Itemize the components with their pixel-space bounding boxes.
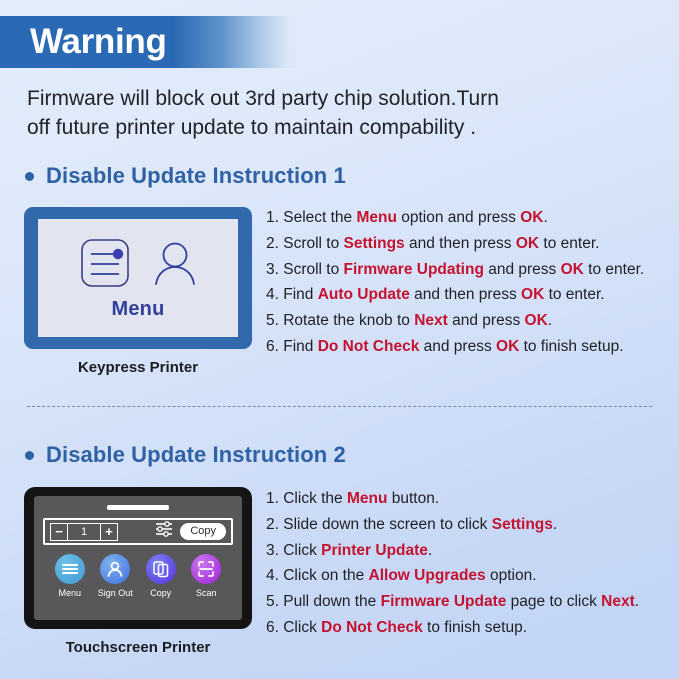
highlighted-term: Auto Update bbox=[318, 286, 410, 303]
sliders-icon[interactable] bbox=[154, 520, 174, 543]
person-icon bbox=[153, 239, 197, 292]
instruction-step: 4. Click on the Allow Upgrades option. bbox=[266, 563, 676, 589]
step-text: to finish setup. bbox=[519, 338, 623, 355]
instruction-step: 1. Click the Menu button. bbox=[266, 486, 676, 512]
keypress-icon-row bbox=[79, 237, 197, 294]
section-heading-2: Disable Update Instruction 2 bbox=[25, 442, 346, 468]
step-text: option and press bbox=[397, 209, 520, 226]
step-text: to enter. bbox=[584, 261, 644, 278]
step-text: page to click bbox=[506, 593, 601, 610]
keypress-menu-label: Menu bbox=[111, 298, 164, 321]
highlighted-term: Do Not Check bbox=[318, 338, 420, 355]
keypress-printer-screen: Menu bbox=[38, 219, 238, 337]
instruction-step: 3. Scroll to Firmware Updating and press… bbox=[266, 257, 676, 283]
scan-frame-icon[interactable] bbox=[191, 554, 221, 584]
section-heading-2-label: Disable Update Instruction 2 bbox=[46, 442, 346, 468]
highlighted-term: Firmware Updating bbox=[344, 261, 484, 278]
step-text: 4. Click on the bbox=[266, 567, 369, 584]
step-text: 5. Rotate the knob to bbox=[266, 312, 414, 329]
app-label-sign-out: Sign Out bbox=[98, 588, 133, 598]
touchscreen-printer-screen: − 1 + Copy bbox=[34, 496, 242, 620]
instruction-step: 1. Select the Menu option and press OK. bbox=[266, 205, 676, 231]
step-text: 3. Click bbox=[266, 542, 321, 559]
step-text: and press bbox=[484, 261, 561, 278]
step-text: 5. Pull down the bbox=[266, 593, 381, 610]
app-item-sign-out[interactable]: Sign Out bbox=[93, 554, 139, 598]
section-heading-1: Disable Update Instruction 1 bbox=[25, 163, 346, 189]
increment-button[interactable]: + bbox=[100, 523, 118, 541]
instruction-step: 6. Click Do Not Check to finish setup. bbox=[266, 615, 676, 641]
instruction-step: 3. Click Printer Update. bbox=[266, 538, 676, 564]
intro-paragraph: Firmware will block out 3rd party chip s… bbox=[27, 84, 627, 142]
copy-quantity-stepper[interactable]: − 1 + bbox=[50, 523, 118, 541]
keypress-printer-caption: Keypress Printer bbox=[24, 359, 252, 376]
highlighted-term: Next bbox=[414, 312, 448, 329]
instruction-step: 2. Scroll to Settings and then press OK … bbox=[266, 231, 676, 257]
highlighted-term: Do Not Check bbox=[321, 619, 423, 636]
instruction-step: 2. Slide down the screen to click Settin… bbox=[266, 512, 676, 538]
step-text: . bbox=[548, 312, 552, 329]
highlighted-term: Menu bbox=[356, 209, 396, 226]
app-item-menu[interactable]: Menu bbox=[47, 554, 93, 598]
touchscreen-printer-device: − 1 + Copy bbox=[24, 487, 252, 629]
step-text: option. bbox=[486, 567, 537, 584]
instruction-list-1: 1. Select the Menu option and press OK.2… bbox=[266, 205, 676, 360]
instruction-step: 5. Pull down the Firmware Update page to… bbox=[266, 589, 676, 615]
highlighted-term: OK bbox=[520, 209, 543, 226]
instruction-list-2: 1. Click the Menu button.2. Slide down t… bbox=[266, 486, 676, 641]
decrement-button[interactable]: − bbox=[50, 523, 68, 541]
app-label-scan: Scan bbox=[196, 588, 217, 598]
documents-icon[interactable] bbox=[146, 554, 176, 584]
step-text: . bbox=[553, 516, 557, 533]
step-text: 1. Click the bbox=[266, 490, 347, 507]
highlighted-term: OK bbox=[561, 261, 584, 278]
highlighted-term: Settings bbox=[344, 235, 405, 252]
touchscreen-printer-figure: − 1 + Copy bbox=[24, 487, 252, 656]
step-text: and press bbox=[448, 312, 525, 329]
bullet-icon bbox=[25, 451, 34, 460]
highlighted-term: Allow Upgrades bbox=[369, 567, 486, 584]
instruction-step: 6. Find Do Not Check and press OK to fin… bbox=[266, 334, 676, 360]
page-title: Warning bbox=[30, 17, 167, 67]
intro-line-1: Firmware will block out 3rd party chip s… bbox=[27, 84, 627, 113]
step-text: to enter. bbox=[539, 235, 599, 252]
step-text: to finish setup. bbox=[423, 619, 527, 636]
step-text: . bbox=[543, 209, 547, 226]
step-text: to enter. bbox=[544, 286, 604, 303]
instruction-step: 5. Rotate the knob to Next and press OK. bbox=[266, 308, 676, 334]
app-label-copy: Copy bbox=[150, 588, 171, 598]
quantity-value: 1 bbox=[68, 523, 100, 541]
highlighted-term: OK bbox=[516, 235, 539, 252]
bullet-icon bbox=[25, 172, 34, 181]
keypress-printer-figure: Menu Keypress Printer bbox=[24, 207, 252, 376]
step-text: button. bbox=[387, 490, 439, 507]
instruction-step: 4. Find Auto Update and then press OK to… bbox=[266, 282, 676, 308]
step-text: 4. Find bbox=[266, 286, 318, 303]
highlighted-term: Next bbox=[601, 593, 635, 610]
highlighted-term: OK bbox=[525, 312, 548, 329]
step-text: and then press bbox=[410, 286, 521, 303]
touchscreen-printer-caption: Touchscreen Printer bbox=[24, 639, 252, 656]
copy-control-bar: − 1 + Copy bbox=[43, 518, 233, 545]
highlighted-term: Settings bbox=[492, 516, 553, 533]
step-text: and press bbox=[419, 338, 496, 355]
step-text: 3. Scroll to bbox=[266, 261, 344, 278]
step-text: and then press bbox=[405, 235, 516, 252]
person-icon[interactable] bbox=[100, 554, 130, 584]
highlighted-term: OK bbox=[496, 338, 519, 355]
speaker-bar bbox=[107, 505, 169, 510]
step-text: 2. Slide down the screen to click bbox=[266, 516, 492, 533]
highlighted-term: Printer Update bbox=[321, 542, 428, 559]
keypress-printer-device: Menu bbox=[24, 207, 252, 349]
step-text: 1. Select the bbox=[266, 209, 356, 226]
section-heading-1-label: Disable Update Instruction 1 bbox=[46, 163, 346, 189]
app-icon-row: Menu Sign Out bbox=[43, 554, 233, 598]
section-divider bbox=[27, 406, 652, 407]
step-text: . bbox=[428, 542, 432, 559]
copy-button[interactable]: Copy bbox=[180, 523, 226, 540]
step-text: 2. Scroll to bbox=[266, 235, 344, 252]
app-item-copy[interactable]: Copy bbox=[138, 554, 184, 598]
highlighted-term: Menu bbox=[347, 490, 387, 507]
intro-line-2: off future printer update to maintain co… bbox=[27, 113, 627, 142]
list-lines-icon bbox=[79, 237, 131, 294]
step-text: 6. Click bbox=[266, 619, 321, 636]
step-text: 6. Find bbox=[266, 338, 318, 355]
app-item-scan[interactable]: Scan bbox=[184, 554, 230, 598]
highlighted-term: Firmware Update bbox=[381, 593, 507, 610]
app-label-menu: Menu bbox=[58, 588, 81, 598]
step-text: . bbox=[635, 593, 639, 610]
highlighted-term: OK bbox=[521, 286, 544, 303]
hamburger-menu-icon[interactable] bbox=[55, 554, 85, 584]
